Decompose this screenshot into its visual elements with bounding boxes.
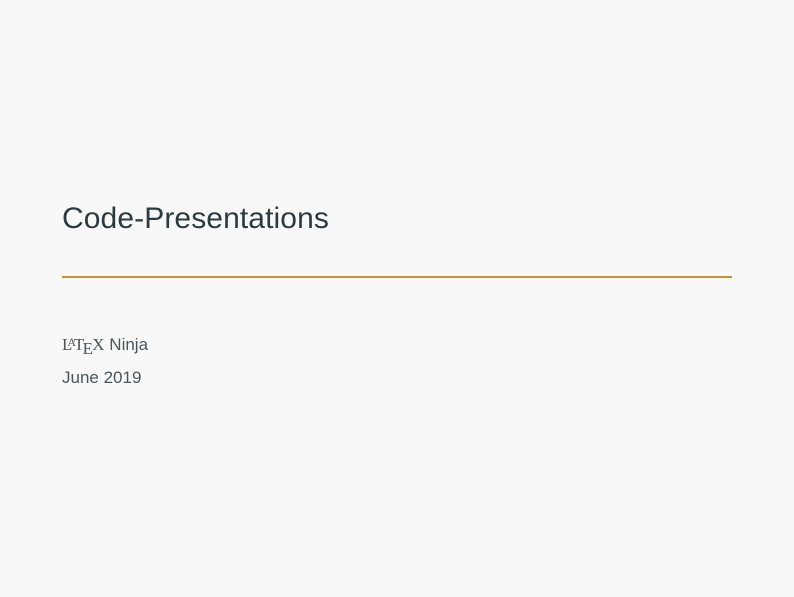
title-accent-rule [62,276,732,278]
author-name: Ninja [105,335,148,354]
page-title: Code-Presentations [62,199,732,239]
latex-logo-x: X [92,336,104,353]
latex-logo: LATEX [62,336,105,353]
latex-logo-a: A [67,337,76,349]
title-block: Code-Presentations [62,199,732,239]
latex-logo-e: E [83,340,93,357]
title-slide: Code-Presentations LATEX Ninja June 2019 [0,0,794,597]
slide-date: June 2019 [62,361,732,394]
author-line: LATEX Ninja [62,328,732,361]
author-date-block: LATEX Ninja June 2019 [62,328,732,394]
